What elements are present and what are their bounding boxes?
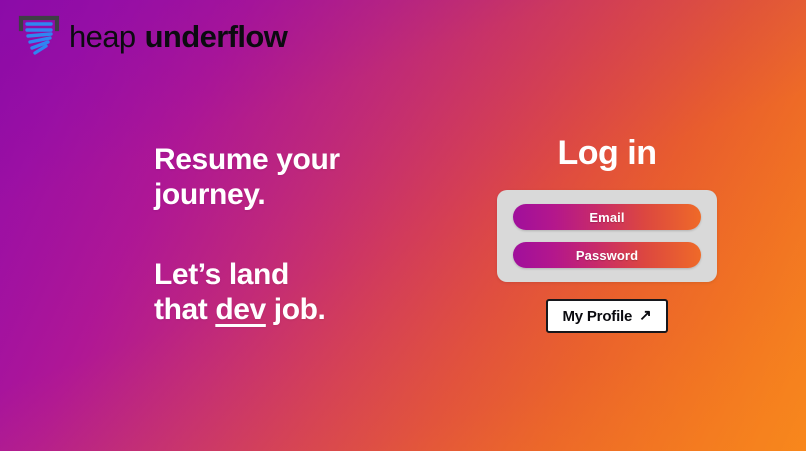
login-panel: Email Password bbox=[497, 190, 717, 282]
headline-emphasis-dev: dev bbox=[215, 293, 266, 326]
my-profile-button[interactable]: My Profile ↗ bbox=[546, 299, 668, 333]
arrow-up-right-icon: ↗ bbox=[639, 308, 651, 323]
headline-line-4-post: job. bbox=[266, 293, 326, 326]
password-field-label: Password bbox=[576, 248, 638, 263]
headline-line-4: that dev job. bbox=[154, 292, 454, 327]
headline-line-4-pre: that bbox=[154, 293, 215, 326]
email-field[interactable]: Email bbox=[513, 204, 701, 230]
headline-line-3: Let’s land bbox=[154, 257, 454, 292]
login-title: Log in bbox=[497, 136, 717, 170]
wordmark-bold: underflow bbox=[145, 21, 288, 52]
heap-underflow-mark-icon bbox=[18, 14, 60, 58]
headline-line-2: journey. bbox=[154, 177, 454, 212]
headline-block-primary: Resume your journey. bbox=[154, 142, 454, 213]
wordmark-light: heap bbox=[69, 21, 136, 52]
headline-block-secondary: Let’s land that dev job. bbox=[154, 257, 454, 328]
password-field[interactable]: Password bbox=[513, 242, 701, 268]
login-section: Log in Email Password My Profile ↗ bbox=[497, 136, 717, 333]
email-field-label: Email bbox=[589, 210, 624, 225]
my-profile-button-label: My Profile bbox=[562, 308, 632, 325]
hero-headline: Resume your journey. Let’s land that dev… bbox=[154, 142, 454, 328]
brand-logo[interactable]: heap underflow bbox=[18, 14, 287, 58]
wordmark: heap underflow bbox=[69, 21, 287, 52]
headline-line-1: Resume your bbox=[154, 142, 454, 177]
